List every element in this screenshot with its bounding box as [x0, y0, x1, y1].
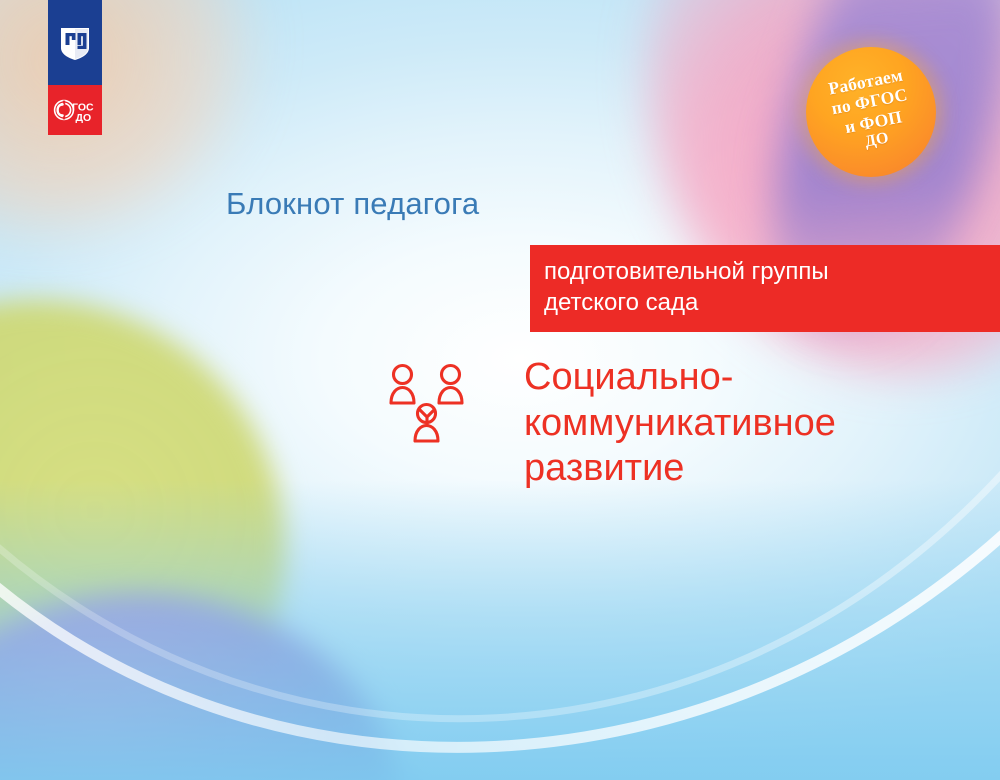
subtitle-banner: подготовительной группы детского сада	[530, 245, 1000, 332]
svg-text:ДО: ДО	[76, 112, 92, 124]
fgos-do-mark-icon: ГОС ДО	[53, 95, 97, 125]
subtitle-banner-line-2: детского сада	[544, 288, 1000, 319]
main-title-line-3: развитие	[524, 446, 954, 492]
publisher-logo-top	[48, 0, 102, 85]
main-title-line-1: Социально-	[524, 355, 954, 401]
kicker-title: Блокнот педагога	[226, 186, 479, 222]
main-title: Социально- коммуникативное развитие	[524, 355, 954, 492]
publisher-logo: ГОС ДО	[48, 0, 102, 135]
fgos-fop-badge: Работаем по ФГОС и ФОП ДО	[806, 47, 936, 177]
main-title-line-2: коммуникативное	[524, 401, 954, 447]
publisher-logo-bottom: ГОС ДО	[48, 85, 102, 135]
book-cover: ГОС ДО Работаем по ФГОС и ФОП ДО Блокнот…	[0, 0, 1000, 780]
shield-ip-icon	[58, 24, 92, 62]
three-people-network-icon	[388, 361, 466, 443]
subtitle-banner-line-1: подготовительной группы	[544, 257, 1000, 288]
fgos-fop-badge-text: Работаем по ФГОС и ФОП ДО	[826, 65, 917, 160]
